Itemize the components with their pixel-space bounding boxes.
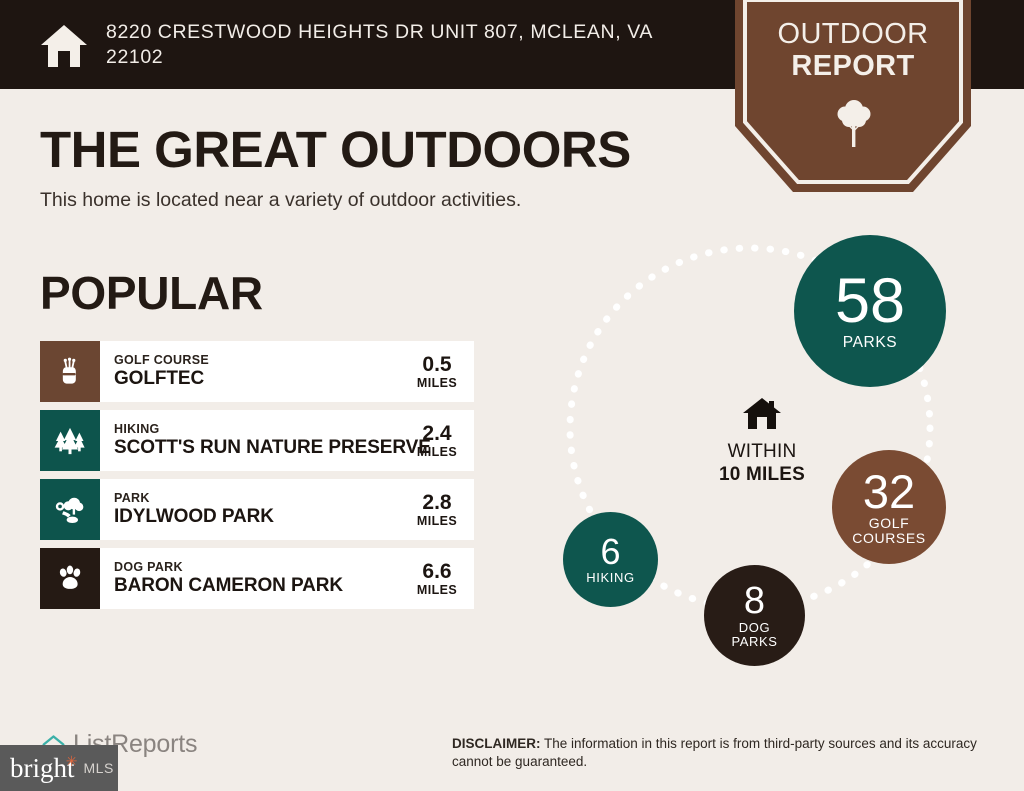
- list-item-name: GOLFTEC: [114, 368, 400, 390]
- bubble-value: 58: [835, 270, 905, 333]
- home-icon: [741, 396, 783, 432]
- bubble-hiking[interactable]: 6 HIKING: [563, 512, 658, 607]
- within-line1: WITHIN: [728, 441, 797, 462]
- paw-print-icon: [40, 548, 100, 609]
- bubble-label-line2: COURSES: [852, 531, 925, 546]
- bubble-label-line1: DOG: [739, 621, 770, 635]
- list-item-category: DOG PARK: [114, 560, 400, 575]
- badge-line2: REPORT: [735, 50, 971, 82]
- bubble-label-line2: PARKS: [731, 635, 777, 649]
- list-item[interactable]: DOG PARK BARON CAMERON PARK 6.6 MILES: [40, 548, 474, 609]
- list-item-name: SCOTT'S RUN NATURE PRESERVE: [114, 437, 400, 459]
- badge-line1: OUTDOOR: [735, 18, 971, 50]
- outdoor-report-badge: OUTDOOR REPORT: [735, 0, 971, 192]
- list-item-name: BARON CAMERON PARK: [114, 575, 400, 597]
- bubble-parks[interactable]: 58 PARKS: [794, 235, 946, 387]
- section-heading-popular: POPULAR: [40, 268, 263, 318]
- watermark-brand: bright ✳: [10, 754, 75, 783]
- property-address: 8220 CRESTWOOD HEIGHTS DR UNIT 807, MCLE…: [106, 20, 691, 70]
- list-item-distance: 6.6 MILES: [400, 548, 474, 609]
- asterisk-icon: ✳: [66, 756, 78, 770]
- list-item-category: HIKING: [114, 422, 400, 437]
- watermark-suffix: MLS: [84, 760, 114, 776]
- list-item-distance: 0.5 MILES: [400, 341, 474, 402]
- list-item-name: IDYLWOOD PARK: [114, 506, 400, 528]
- bubble-label: PARKS: [843, 335, 897, 351]
- disclaimer-label: DISCLAIMER:: [452, 736, 541, 751]
- distance-value: 2.8: [422, 491, 451, 514]
- distance-value: 0.5: [422, 353, 451, 376]
- bubble-label-line1: GOLF: [869, 516, 910, 531]
- bubble-value: 32: [863, 468, 915, 515]
- pine-trees-icon: [40, 410, 100, 471]
- distance-unit: MILES: [417, 514, 457, 529]
- bubble-label: HIKING: [586, 571, 634, 585]
- bright-mls-watermark: bright ✳ MLS: [0, 745, 118, 791]
- distance-value: 6.6: [422, 560, 451, 583]
- distance-unit: MILES: [417, 583, 457, 598]
- distance-unit: MILES: [417, 445, 457, 460]
- within-line2: 10 MILES: [682, 463, 842, 486]
- list-item-distance: 2.4 MILES: [400, 410, 474, 471]
- distance-unit: MILES: [417, 376, 457, 391]
- page-title: THE GREAT OUTDOORS: [40, 122, 631, 178]
- popular-list: GOLF COURSE GOLFTEC 0.5 MILES: [40, 341, 474, 617]
- list-item[interactable]: PARK IDYLWOOD PARK 2.8 MILES: [40, 479, 474, 540]
- home-icon: [38, 22, 90, 70]
- bubble-value: 6: [600, 534, 620, 570]
- list-item-distance: 2.8 MILES: [400, 479, 474, 540]
- tree-icon: [837, 97, 871, 149]
- bubble-golf-courses[interactable]: 32 GOLF COURSES: [832, 450, 946, 564]
- outdoor-report-page: 8220 CRESTWOOD HEIGHTS DR UNIT 807, MCLE…: [0, 0, 1024, 791]
- chart-center-label: WITHIN 10 MILES: [682, 396, 842, 486]
- bubble-value: 8: [744, 582, 765, 620]
- bubble-dog-parks[interactable]: 8 DOG PARKS: [704, 565, 805, 666]
- distance-value: 2.4: [422, 422, 451, 445]
- list-item-category: PARK: [114, 491, 400, 506]
- list-item[interactable]: HIKING SCOTT'S RUN NATURE PRESERVE 2.4 M…: [40, 410, 474, 471]
- park-tree-bench-icon: [40, 479, 100, 540]
- within-text: WITHIN 10 MILES: [682, 440, 842, 486]
- within-10-miles-chart: 58 PARKS 32 GOLF COURSES 8 DOG PARKS 6 H…: [520, 228, 1010, 678]
- list-item[interactable]: GOLF COURSE GOLFTEC 0.5 MILES: [40, 341, 474, 402]
- golf-bag-icon: [40, 341, 100, 402]
- page-subtitle: This home is located near a variety of o…: [40, 187, 521, 213]
- list-item-category: GOLF COURSE: [114, 353, 400, 368]
- disclaimer: DISCLAIMER: The information in this repo…: [452, 735, 997, 771]
- badge-title: OUTDOOR REPORT: [735, 18, 971, 82]
